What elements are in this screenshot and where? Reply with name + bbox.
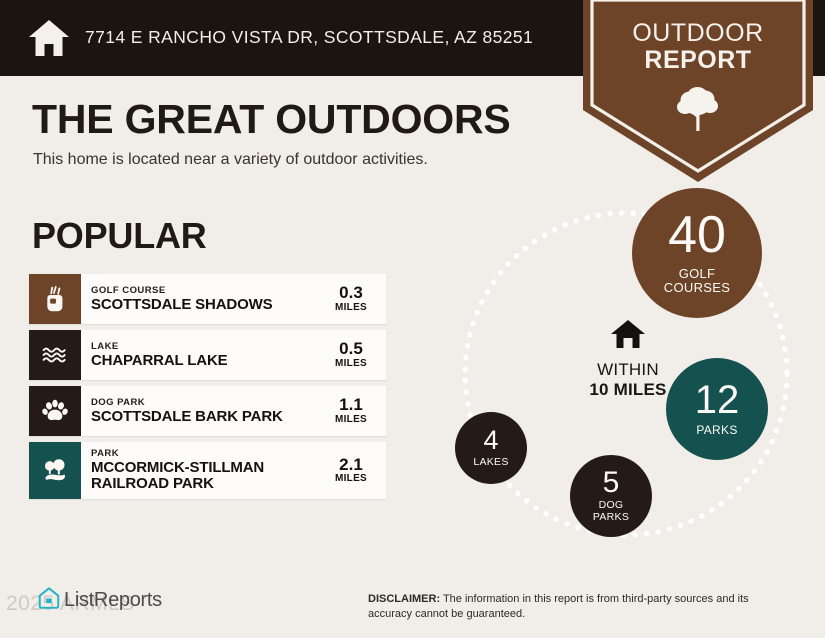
distance-unit: MILES	[335, 302, 367, 314]
stat-circle-golf-courses[interactable]: 40 GOLF COURSES	[632, 188, 762, 318]
stat-circle-lakes[interactable]: 4 LAKES	[455, 412, 527, 484]
center-line-1: WITHIN	[548, 361, 708, 380]
stat-value: 5	[603, 469, 620, 498]
center-line-2: 10 MILES	[548, 380, 708, 400]
distance-unit: MILES	[335, 414, 367, 426]
waves-icon	[29, 330, 81, 380]
list-item-text: GOLF COURSE SCOTTSDALE SHADOWS	[81, 274, 324, 324]
golf-bag-icon	[29, 274, 81, 324]
list-item[interactable]: GOLF COURSE SCOTTSDALE SHADOWS 0.3 MILES	[29, 274, 386, 324]
stat-value: 40	[668, 211, 726, 260]
stat-label: LAKES	[473, 457, 508, 468]
listreports-logo-text: ListReports	[64, 589, 162, 612]
page-subtitle: This home is located near a variety of o…	[33, 151, 428, 169]
list-item-distance: 1.1 MILES	[324, 386, 386, 436]
stat-label-line-2: PARKS	[593, 511, 629, 523]
list-item-name: SCOTTSDALE SHADOWS	[91, 297, 320, 314]
property-address: 7714 E RANCHO VISTA DR, SCOTTSDALE, AZ 8…	[85, 27, 533, 48]
list-item-distance: 0.5 MILES	[324, 330, 386, 380]
disclaimer-label: DISCLAIMER:	[368, 593, 440, 605]
list-item-name: CHAPARRAL LAKE	[91, 353, 320, 370]
list-item[interactable]: DOG PARK SCOTTSDALE BARK PARK 1.1 MILES	[29, 386, 386, 436]
list-item-text: DOG PARK SCOTTSDALE BARK PARK	[81, 386, 324, 436]
distance-unit: MILES	[335, 358, 367, 370]
list-item[interactable]: PARK MCCORMICK-STILLMAN RAILROAD PARK 2.…	[29, 442, 386, 499]
stat-label: DOG PARKS	[593, 500, 629, 523]
disclaimer: DISCLAIMER: The information in this repo…	[368, 592, 793, 622]
tree-icon	[676, 86, 720, 132]
distance-unit: MILES	[335, 473, 367, 485]
outdoor-report-badge: OUTDOOR REPORT	[583, 0, 813, 182]
list-item-text: LAKE CHAPARRAL LAKE	[81, 330, 324, 380]
popular-section-title: POPULAR	[32, 215, 207, 257]
stat-label: GOLF COURSES	[664, 267, 730, 295]
list-item-category: LAKE	[91, 341, 320, 353]
list-item-distance: 0.3 MILES	[324, 274, 386, 324]
list-item-name: MCCORMICK-STILLMAN RAILROAD PARK	[91, 460, 320, 493]
list-item-distance: 2.1 MILES	[324, 442, 386, 499]
listreports-house-icon	[37, 586, 61, 615]
distance-value: 0.3	[339, 284, 363, 302]
diagram-center-group: WITHIN 10 MILES	[548, 318, 708, 399]
list-item-category: GOLF COURSE	[91, 285, 320, 297]
distance-value: 2.1	[339, 456, 363, 474]
list-item-name: SCOTTSDALE BARK PARK	[91, 409, 320, 426]
stat-label-line-1: GOLF	[679, 266, 716, 281]
within-10-miles-diagram: 40 GOLF COURSES 12 PARKS 4 LAKES 5 DOG P…	[430, 178, 825, 560]
park-tree-icon	[29, 442, 81, 499]
stat-value: 4	[483, 428, 498, 454]
paw-print-icon	[29, 386, 81, 436]
list-item-category: DOG PARK	[91, 397, 320, 409]
outdoor-report-page: 7714 E RANCHO VISTA DR, SCOTTSDALE, AZ 8…	[0, 0, 825, 638]
list-item[interactable]: LAKE CHAPARRAL LAKE 0.5 MILES	[29, 330, 386, 380]
list-item-text: PARK MCCORMICK-STILLMAN RAILROAD PARK	[81, 442, 324, 499]
popular-list: GOLF COURSE SCOTTSDALE SHADOWS 0.3 MILES	[29, 274, 386, 505]
home-icon	[548, 318, 708, 355]
stat-label-line-2: COURSES	[664, 280, 730, 295]
stat-label: PARKS	[696, 424, 737, 437]
distance-value: 0.5	[339, 340, 363, 358]
stat-circle-dog-parks[interactable]: 5 DOG PARKS	[570, 455, 652, 537]
page-title: THE GREAT OUTDOORS	[32, 96, 511, 143]
home-icon	[27, 16, 71, 60]
stat-label-line-1: DOG	[599, 499, 624, 511]
distance-value: 1.1	[339, 396, 363, 414]
listreports-logo[interactable]: ListReports	[37, 586, 162, 615]
